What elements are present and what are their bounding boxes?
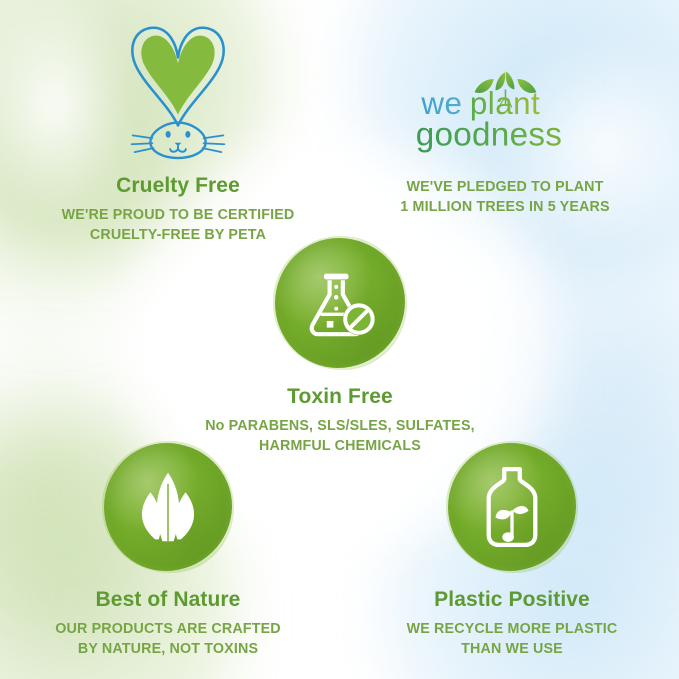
badge-description: WE'VE PLEDGED TO PLANT 1 MILLION TREES I… bbox=[345, 177, 665, 218]
flask-no-entry-icon bbox=[275, 238, 405, 368]
three-leaves-icon bbox=[104, 443, 232, 571]
badge-best-of-nature: Best of Nature OUR PRODUCTS ARE CRAFTED … bbox=[18, 443, 318, 660]
badge-title: Plastic Positive bbox=[362, 588, 662, 612]
svg-text:goodness: goodness bbox=[416, 117, 562, 154]
brand-values-graphic: Cruelty Free WE'RE PROUD TO BE CERTIFIED… bbox=[0, 0, 679, 679]
badge-title: Toxin Free bbox=[180, 385, 500, 409]
peta-bunny-heart-icon bbox=[109, 20, 247, 160]
we-plant-goodness-logo: we plant goodness bbox=[410, 60, 600, 155]
badge-description: OUR PRODUCTS ARE CRAFTED BY NATURE, NOT … bbox=[18, 619, 318, 660]
badge-title: Cruelty Free bbox=[18, 174, 338, 198]
badge-cruelty-free: Cruelty Free WE'RE PROUD TO BE CERTIFIED… bbox=[18, 20, 338, 246]
badge-we-plant-goodness: we plant goodness WE'VE PLEDGED TO PLANT… bbox=[345, 60, 665, 218]
badge-description: WE RECYCLE MORE PLASTIC THAN WE USE bbox=[362, 619, 662, 660]
best-of-nature-icon-circle bbox=[104, 443, 232, 571]
bottle-sprout-icon bbox=[448, 443, 576, 571]
badge-plastic-positive: Plastic Positive WE RECYCLE MORE PLASTIC… bbox=[362, 443, 662, 660]
plastic-positive-icon-circle bbox=[448, 443, 576, 571]
toxin-free-icon-circle bbox=[275, 238, 405, 368]
badge-title: Best of Nature bbox=[18, 588, 318, 612]
badge-toxin-free: Toxin Free No PARABENS, SLS/SLES, SULFAT… bbox=[180, 238, 500, 457]
